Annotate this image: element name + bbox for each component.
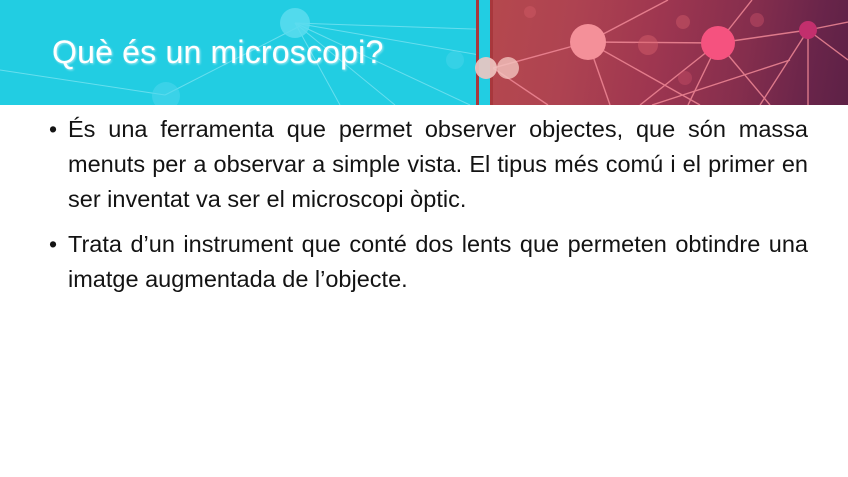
slide-canvas: Què és un microscopi? • És una ferrament…	[0, 0, 848, 477]
node-red-faint-c	[750, 13, 764, 27]
bullet-marker-icon: •	[40, 227, 68, 262]
node-red-faint-d	[678, 71, 692, 85]
node-red-faint-a	[638, 35, 658, 55]
node-edge-pale	[497, 57, 519, 79]
node-magenta-small	[799, 21, 817, 39]
node-red-faint-b	[676, 15, 690, 29]
content-body: • És una ferramenta que permet observer …	[40, 112, 808, 307]
node-cyan-small	[152, 82, 180, 105]
page-title: Què és un microscopi?	[52, 28, 472, 78]
node-pink-large	[701, 26, 735, 60]
node-red-large	[570, 24, 606, 60]
bullet-paragraph-2: Trata d’un instrument que conté dos lent…	[68, 227, 808, 297]
node-red-faint-e	[524, 6, 536, 18]
bullet-paragraph-1: És una ferramenta que permet observer ob…	[68, 112, 808, 217]
title-banner: Què és un microscopi?	[0, 0, 848, 105]
list-item: • És una ferramenta que permet observer …	[40, 112, 808, 217]
node-divider-pale	[475, 57, 497, 79]
list-item: • Trata d’un instrument que conté dos le…	[40, 227, 808, 297]
bullet-marker-icon: •	[40, 112, 68, 147]
